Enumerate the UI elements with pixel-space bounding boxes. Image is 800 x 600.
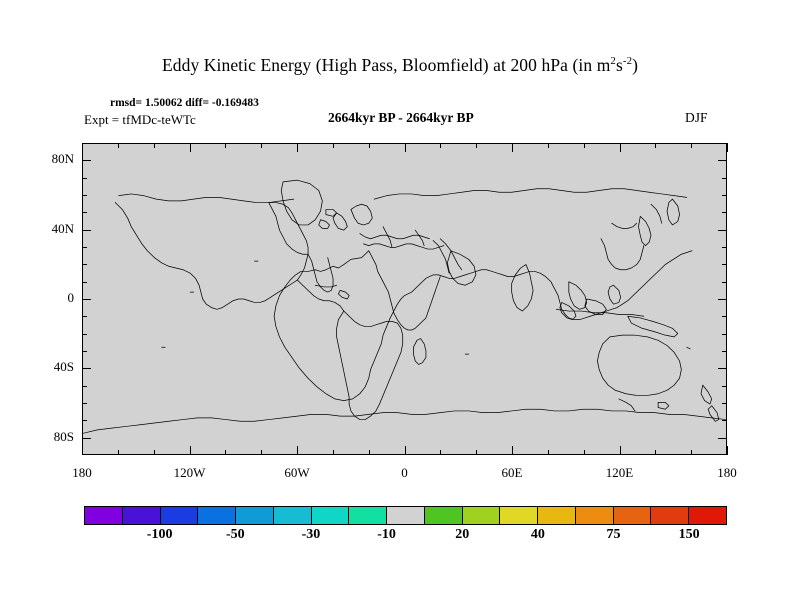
coastline-map <box>83 144 726 454</box>
coastline-new-guinea <box>628 316 678 337</box>
y-tick-minor-right <box>722 195 727 196</box>
y-tick-minor <box>82 195 87 196</box>
coastline-antarctic-peninsula <box>619 399 635 411</box>
chart-title: Eddy Kinetic Energy (High Pass, Bloomfie… <box>0 55 800 76</box>
y-axis-label: 80S <box>28 429 74 445</box>
y-tick-minor-right <box>722 403 727 404</box>
colorbar-segment <box>425 507 463 524</box>
y-axis-label: 0 <box>28 290 74 306</box>
x-tick-minor <box>82 446 83 455</box>
rmsd-annotation: rmsd= 1.50062 diff= -0.169483 <box>110 97 259 109</box>
chart-title-tail: ) <box>632 55 638 75</box>
chart-title-mid: s <box>616 55 623 75</box>
coastline-madagascar <box>413 339 426 365</box>
y-tick-minor <box>82 334 87 335</box>
y-tick-minor-right <box>722 264 727 265</box>
coastline-sakhalin <box>651 204 662 223</box>
x-tick-minor-top <box>369 143 370 148</box>
y-tick-minor <box>82 316 87 317</box>
x-tick-minor-top <box>584 143 585 148</box>
chart-title-sup-2: -2 <box>623 55 632 67</box>
x-tick-minor <box>476 450 477 455</box>
x-axis-label: 60W <box>267 465 327 481</box>
coastline-new-zealand-south <box>708 406 719 422</box>
x-tick-minor <box>118 450 119 455</box>
x-tick-minor-top <box>297 143 298 152</box>
coastline-red-sea-east <box>440 239 461 270</box>
colorbar-segment <box>500 507 538 524</box>
colorbar-segment <box>576 507 614 524</box>
y-tick-minor <box>82 282 87 283</box>
x-axis-label: 60E <box>482 465 542 481</box>
coastline-cuba <box>315 285 336 287</box>
colorbar-tick-label: -30 <box>281 527 341 543</box>
y-tick-minor <box>82 178 87 179</box>
y-tick-minor-right <box>718 230 727 231</box>
coastline-africa-east <box>369 251 440 330</box>
coastline-hudson-bay <box>269 203 308 255</box>
x-tick-minor <box>440 450 441 455</box>
season-annotation: DJF <box>685 110 708 126</box>
coastline-south-america <box>337 311 403 420</box>
x-tick-minor-top <box>190 143 191 152</box>
x-tick-minor <box>727 446 728 455</box>
x-tick-minor <box>548 450 549 455</box>
x-axis-label: 120W <box>160 465 220 481</box>
y-axis-label: 80N <box>28 151 74 167</box>
coastline-japan <box>638 216 651 245</box>
x-tick-minor-top <box>225 143 226 148</box>
y-tick-minor <box>82 420 87 421</box>
colorbar-segment <box>274 507 312 524</box>
coastline-australia <box>597 335 681 395</box>
coastline-north-america-west <box>115 203 308 310</box>
colorbar-segment <box>198 507 236 524</box>
y-tick-minor-right <box>722 178 727 179</box>
colorbar-segment <box>614 507 652 524</box>
colorbar-segment <box>538 507 576 524</box>
colorbar-segment <box>387 507 425 524</box>
x-tick-minor-top <box>261 143 262 148</box>
colorbar-segment <box>161 507 199 524</box>
experiment-annotation: Expt = tfMDc-teWTc <box>84 112 196 128</box>
x-tick-minor <box>261 450 262 455</box>
map-plot-area <box>82 143 727 455</box>
coastline-korea-japan-bay <box>612 223 637 228</box>
x-tick-minor-top <box>727 143 728 152</box>
y-tick-minor <box>82 351 87 352</box>
y-tick-minor-right <box>722 316 727 317</box>
y-tick-minor <box>82 386 87 387</box>
colorbar-segment <box>236 507 274 524</box>
x-tick-minor-top <box>691 143 692 148</box>
colorbar-tick-label: 75 <box>584 527 644 543</box>
x-tick-minor-top <box>476 143 477 148</box>
y-tick-minor-right <box>718 299 727 300</box>
x-tick-minor <box>405 446 406 455</box>
coastline-kamchatka <box>667 199 680 225</box>
y-tick-minor-right <box>722 420 727 421</box>
x-tick-minor-top <box>154 143 155 148</box>
colorbar-tick-label: -50 <box>205 527 265 543</box>
coastline-scandinavia <box>351 204 372 225</box>
coastline-italy <box>383 227 392 248</box>
y-tick-minor-right <box>722 282 727 283</box>
y-tick-minor-right <box>722 351 727 352</box>
colorbar-tick-label: -100 <box>130 527 190 543</box>
y-tick-minor-right <box>722 386 727 387</box>
x-axis-label: 180 <box>52 465 112 481</box>
y-tick-minor <box>82 438 91 439</box>
x-tick-minor <box>333 450 334 455</box>
period-annotation: 2664kyr BP - 2664kyr BP <box>328 110 474 126</box>
colorbar-segment <box>689 507 726 524</box>
y-tick-minor <box>82 247 87 248</box>
colorbar-segment <box>123 507 161 524</box>
y-tick-minor <box>82 212 87 213</box>
colorbar-segment <box>349 507 387 524</box>
coastline-british-isles <box>333 213 347 230</box>
colorbar <box>84 506 727 525</box>
x-tick-minor-top <box>333 143 334 148</box>
y-axis-label: 40N <box>28 221 74 237</box>
y-tick-minor-right <box>722 334 727 335</box>
y-tick-minor-right <box>722 212 727 213</box>
coastline-greece-turkey <box>415 230 424 246</box>
coastline-indochina <box>569 282 587 310</box>
colorbar-segment <box>85 507 123 524</box>
coastline-siberia-north <box>374 189 687 199</box>
x-tick-minor-top <box>440 143 441 148</box>
y-tick-minor <box>82 264 87 265</box>
coastline-ireland <box>319 220 330 229</box>
coastline-tasmania <box>658 402 669 409</box>
coastline-antarctica <box>83 409 726 433</box>
y-tick-minor <box>82 368 91 369</box>
colorbar-segment <box>463 507 501 524</box>
coastline-arabia <box>447 251 476 285</box>
x-tick-minor-top <box>405 143 406 152</box>
y-tick-minor <box>82 403 87 404</box>
coastline-indonesia-arc <box>556 309 644 316</box>
colorbar-segment <box>651 507 689 524</box>
x-tick-minor-top <box>82 143 83 152</box>
x-tick-minor-top <box>620 143 621 152</box>
y-tick-minor <box>82 230 91 231</box>
coastline-north-africa <box>363 244 443 249</box>
x-tick-minor <box>297 446 298 455</box>
x-tick-minor-top <box>548 143 549 148</box>
x-tick-minor <box>584 450 585 455</box>
x-tick-minor-top <box>655 143 656 148</box>
y-axis-label: 40S <box>28 359 74 375</box>
x-tick-minor <box>655 450 656 455</box>
x-tick-minor <box>620 446 621 455</box>
x-tick-minor-top <box>118 143 119 148</box>
y-tick-minor-right <box>722 247 727 248</box>
x-tick-minor <box>190 446 191 455</box>
coastline-new-zealand-north <box>701 385 712 404</box>
x-tick-minor <box>691 450 692 455</box>
x-tick-minor <box>154 450 155 455</box>
colorbar-tick-label: 150 <box>659 527 719 543</box>
y-tick-minor-right <box>718 368 727 369</box>
coastline-greenland <box>281 180 322 225</box>
colorbar-tick-label: 40 <box>508 527 568 543</box>
x-axis-label: 0 <box>375 465 435 481</box>
x-tick-minor <box>369 450 370 455</box>
coastline-hispaniola <box>338 290 349 299</box>
x-axis-label: 180 <box>697 465 757 481</box>
x-axis-label: 120E <box>590 465 650 481</box>
colorbar-tick-label: 20 <box>432 527 492 543</box>
coastline-east-asia <box>601 239 644 270</box>
x-tick-minor <box>225 450 226 455</box>
x-tick-minor <box>512 446 513 455</box>
figure-canvas: Eddy Kinetic Energy (High Pass, Bloomfie… <box>0 0 800 600</box>
colorbar-tick-label: -10 <box>357 527 417 543</box>
x-tick-minor-top <box>512 143 513 152</box>
y-tick-minor <box>82 299 91 300</box>
coastline-arctic-canada <box>119 194 294 203</box>
y-tick-minor-right <box>718 160 727 161</box>
y-tick-minor-right <box>718 438 727 439</box>
coastline-central-america <box>297 280 343 311</box>
coastline-philippines <box>608 285 621 304</box>
coastline-island-d <box>687 347 691 349</box>
chart-title-main: Eddy Kinetic Energy (High Pass, Bloomfie… <box>162 55 610 75</box>
colorbar-segment <box>312 507 350 524</box>
y-tick-minor <box>82 160 91 161</box>
